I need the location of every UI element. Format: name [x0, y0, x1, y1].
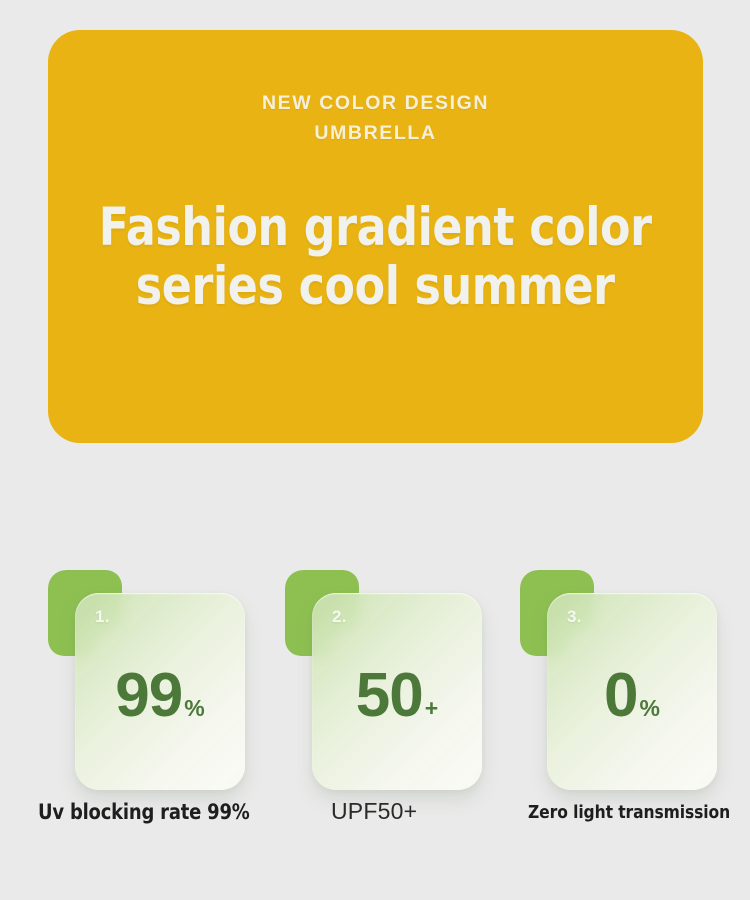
- feature-stat-card-2: 2. 50+: [261, 560, 497, 820]
- feature-index-badge: 2.: [332, 607, 347, 627]
- feature-value: 0: [604, 661, 637, 730]
- feature-captions-group: Uv blocking rate 99% UPF50+ Zero light t…: [0, 798, 750, 838]
- feature-index-badge: 1.: [95, 607, 110, 627]
- feature-stat-value-group: 0%: [547, 665, 717, 727]
- feature-card-surface: 2. 50+: [312, 593, 482, 790]
- feature-stat-value-group: 99%: [75, 665, 245, 727]
- page-title: Fashion gradient color series cool summe…: [99, 198, 652, 316]
- feature-card-surface: 1. 99%: [75, 593, 245, 790]
- hero-eyebrow: NEW COLOR DESIGN UMBRELLA: [262, 88, 489, 148]
- feature-caption-3: Zero light transmission: [528, 802, 730, 823]
- hero-title-line-2: series cool summer: [99, 257, 652, 316]
- feature-value: 99: [115, 661, 182, 730]
- feature-value: 50: [356, 661, 423, 730]
- feature-stat-value-group: 50+: [312, 665, 482, 727]
- hero-eyebrow-line-2: UMBRELLA: [262, 118, 489, 148]
- feature-caption-2: UPF50+: [331, 798, 417, 825]
- hero-title-line-1: Fashion gradient color: [99, 197, 652, 258]
- hero-eyebrow-line-1: NEW COLOR DESIGN: [262, 92, 489, 114]
- feature-stat-card-3: 3. 0%: [496, 560, 732, 820]
- feature-card-surface: 3. 0%: [547, 593, 717, 790]
- feature-caption-1: Uv blocking rate 99%: [38, 800, 250, 824]
- feature-value-suffix: +: [425, 695, 438, 721]
- hero-banner: NEW COLOR DESIGN UMBRELLA Fashion gradie…: [48, 30, 703, 443]
- feature-value-suffix: %: [640, 695, 660, 721]
- feature-stat-card-1: 1. 99%: [24, 560, 260, 820]
- feature-value-suffix: %: [184, 695, 204, 721]
- feature-index-badge: 3.: [567, 607, 582, 627]
